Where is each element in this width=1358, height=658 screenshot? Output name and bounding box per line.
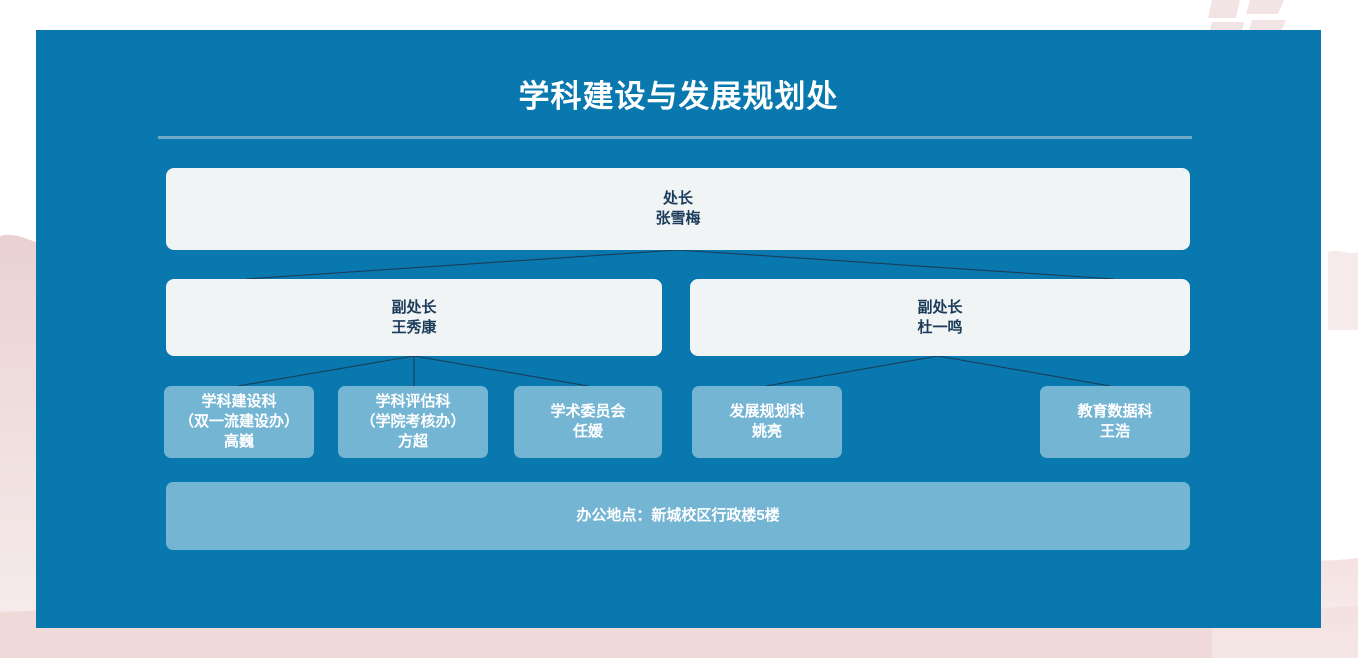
decor-right-edge-shape — [1328, 251, 1358, 330]
connector-deputy-right-to-child-1 — [766, 356, 938, 386]
connector-deputy-left-to-child-3 — [414, 356, 588, 386]
node-unit: 学术委员会 — [550, 402, 625, 422]
node-unit: 学科评估科 — [375, 392, 450, 412]
node-name: 杜一鸣 — [917, 318, 962, 338]
node-name: 张雪梅 — [655, 209, 700, 229]
node-academic-committee[interactable]: 学术委员会 任媛 — [514, 386, 662, 458]
connector-deputy-right-to-child-2 — [938, 356, 1110, 386]
node-name: 任媛 — [573, 422, 603, 442]
node-section-development-planning[interactable]: 发展规划科 姚亮 — [692, 386, 842, 458]
node-unit: 学科建设科 — [201, 392, 276, 412]
node-name: 王秀康 — [391, 318, 436, 338]
node-name: 姚亮 — [752, 422, 782, 442]
node-name: 方超 — [398, 432, 428, 452]
node-role: 处长 — [663, 189, 693, 209]
connector-deputy-left-to-child-1 — [238, 356, 414, 386]
node-role: 副处长 — [917, 298, 962, 318]
office-location-banner[interactable]: 办公地点：新城校区行政楼5楼 — [166, 482, 1190, 550]
node-subunit: （学院考核办） — [360, 412, 465, 432]
node-section-discipline-evaluation[interactable]: 学科评估科 （学院考核办） 方超 — [338, 386, 488, 458]
node-name: 王浩 — [1100, 422, 1130, 442]
connector-l1-to-deputy-left — [246, 250, 678, 279]
office-location-text: 办公地点：新城校区行政楼5楼 — [576, 506, 779, 526]
node-section-education-data[interactable]: 教育数据科 王浩 — [1040, 386, 1190, 458]
node-deputy-director-2[interactable]: 副处长 杜一鸣 — [690, 279, 1190, 356]
node-subunit: （双一流建设办） — [179, 412, 299, 432]
node-unit: 发展规划科 — [729, 402, 804, 422]
node-unit: 教育数据科 — [1077, 402, 1152, 422]
org-chart-panel: 学科建设与发展规划处 处长 张雪梅 副处长 — [36, 30, 1321, 628]
node-name: 高巍 — [224, 432, 254, 452]
node-role: 副处长 — [391, 298, 436, 318]
node-deputy-director-1[interactable]: 副处长 王秀康 — [166, 279, 662, 356]
connector-l1-to-deputy-right — [678, 250, 1114, 279]
org-chart: 处长 张雪梅 副处长 王秀康 副处长 杜一鸣 学科建设科 （双一流建设办） 高巍… — [36, 30, 1321, 628]
node-director[interactable]: 处长 张雪梅 — [166, 168, 1190, 250]
node-section-discipline-construction[interactable]: 学科建设科 （双一流建设办） 高巍 — [164, 386, 314, 458]
